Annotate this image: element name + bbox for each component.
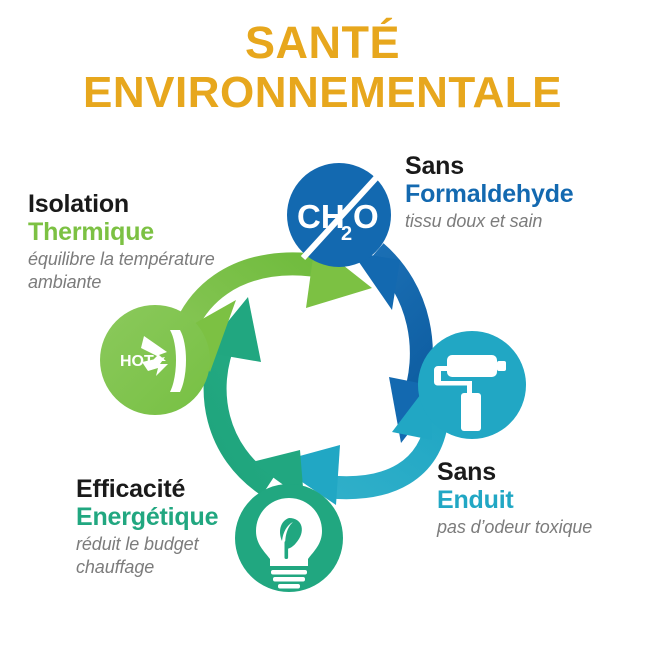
callout-description: pas d’odeur toxique [437, 516, 642, 539]
formula-subscript-2: 2 [341, 223, 352, 245]
callout-sans-enduit: Sans Enduit pas d’odeur toxique [437, 458, 642, 539]
callout-heading: Sans [437, 458, 642, 486]
callout-subheading: Energétique [76, 503, 276, 531]
callout-description: équilibre la température ambiante [28, 248, 263, 294]
callout-description: tissu doux et sain [405, 210, 635, 233]
callout-heading: Isolation [28, 190, 263, 218]
formula-o: O [353, 198, 379, 235]
callout-sans-formaldehyde: Sans Formaldehyde tissu doux et sain [405, 152, 635, 233]
callout-isolation-thermique: Isolation Thermique équilibre la tempéra… [28, 190, 263, 294]
callout-heading: Sans [405, 152, 635, 180]
infographic-root: SANTÉ ENVIRONNEMENTALE [0, 0, 645, 645]
callout-efficacite-energetique: Efficacité Energétique réduit le budget … [76, 475, 276, 579]
callout-description-line-2: chauffage [76, 556, 276, 579]
callout-subheading: Thermique [28, 218, 263, 246]
callout-subheading: Formaldehyde [405, 180, 635, 208]
callout-description-line-1: réduit le budget [76, 533, 276, 556]
callout-subheading: Enduit [437, 486, 642, 514]
formula-ch: CH [297, 198, 345, 235]
callout-heading: Efficacité [76, 475, 276, 503]
